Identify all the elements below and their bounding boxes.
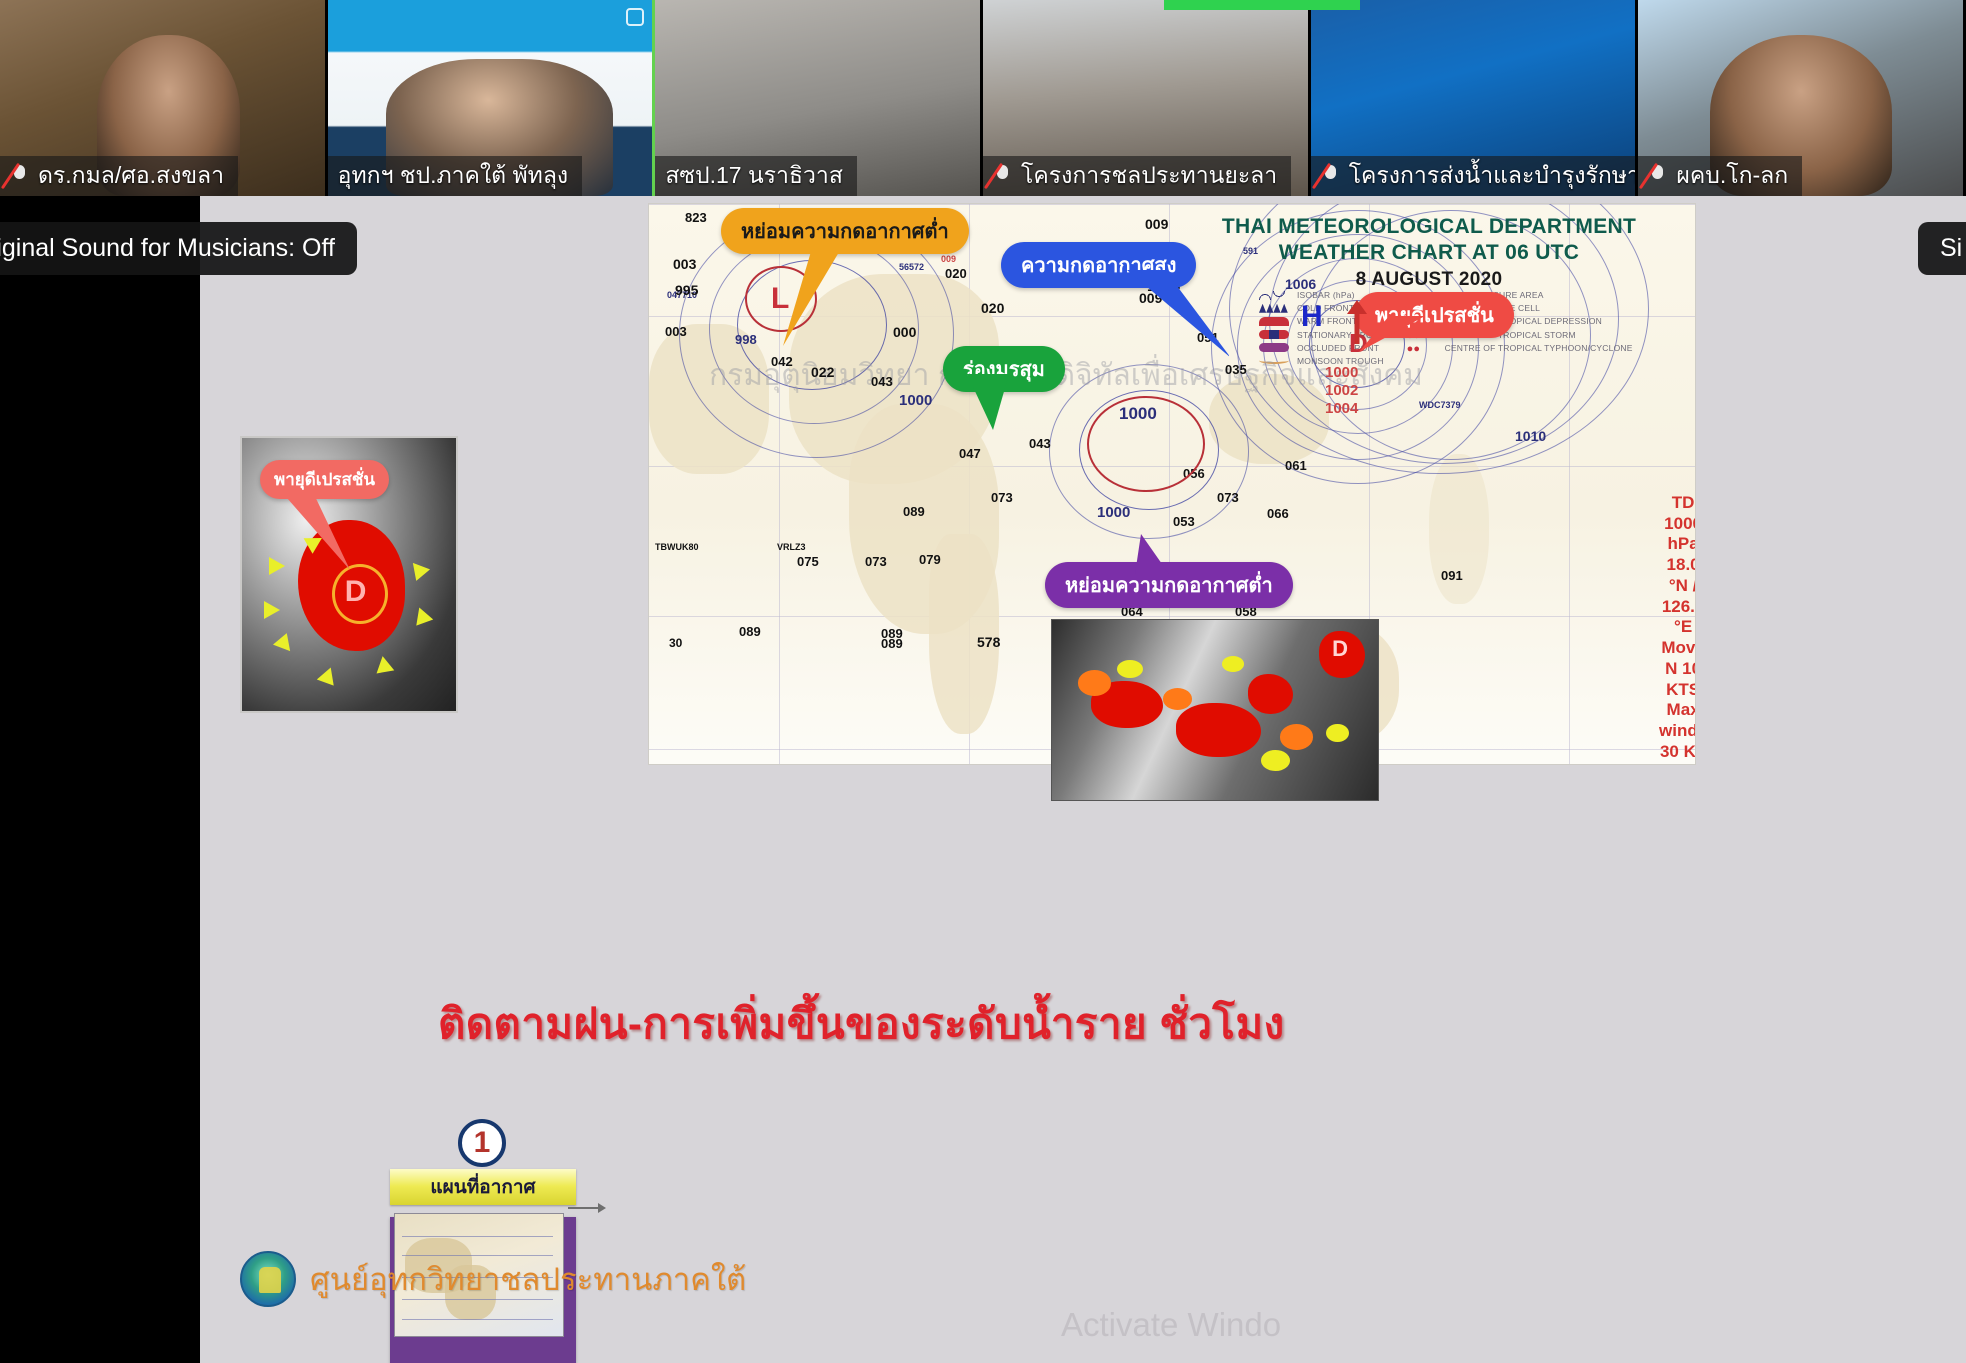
station-number: 073 (865, 554, 887, 569)
zoom-meeting-window: ดร.กมล/ศอ.สงขลา อุทกฯ ชป.ภาคใต้ พัทลุง ส… (0, 0, 1966, 1363)
organization-name: ศูนย์อุทกวิทยาชลประทานภาคใต้ (310, 1254, 746, 1304)
isobar-label: 1000 (1097, 504, 1130, 521)
participant-namebar: ดร.กมล/ศอ.สงขลา (0, 156, 238, 196)
callout-leader-purple (1079, 534, 1169, 574)
depression-marker: D (1332, 636, 1348, 662)
chart-id: VRLZ3 (777, 542, 806, 552)
td-winds: Max winds 30 KT (1659, 700, 1696, 762)
station-number: 075 (797, 554, 819, 569)
stationary-front-icon (1259, 330, 1289, 339)
station-number: 043 (871, 374, 893, 389)
mic-muted-icon (993, 163, 1013, 189)
station-number: 061 (1285, 458, 1307, 473)
chart-subtitle: WEATHER CHART AT 06 UTC (1189, 240, 1669, 266)
shared-screen-content: THAI METEOROLOGICAL DEPARTMENT WEATHER C… (200, 196, 1966, 1363)
slide-number-badge: 1 (458, 1119, 506, 1167)
chart-id: WDC7379 (1419, 400, 1461, 410)
participant-name: ผคบ.โก-ลก (1676, 158, 1788, 194)
isobar-label: 1000 (1325, 364, 1358, 381)
original-sound-toast: riginal Sound for Musicians: Off (0, 222, 357, 275)
video-tile-3[interactable]: โครงการชลประทานยะลา (983, 0, 1311, 196)
station-number: 020 (981, 300, 1004, 316)
participant-namebar: โครงการส่งน้ำและบำรุงรักษา... (1311, 156, 1639, 196)
td-position: 18.0 °N / 126.5 °E (1659, 555, 1696, 638)
speaking-indicator-bar (1164, 0, 1360, 10)
station-number: 089 (903, 504, 925, 519)
participant-namebar: อุทกฯ ชป.ภาคใต้ พัทลุง (328, 156, 582, 196)
station-number: 823 (685, 210, 707, 225)
station-number: 047 (959, 446, 981, 461)
mic-muted-icon (1321, 163, 1341, 189)
station-number: 022 (811, 364, 834, 380)
mic-muted-icon (1648, 163, 1668, 189)
station-number: 089 (881, 636, 903, 651)
station-number: 56572 (899, 262, 924, 272)
participant-name: อุทกฯ ชป.ภาคใต้ พัทลุง (338, 158, 568, 194)
depression-info: TD 1000 hPa 18.0 °N / 126.5 °E Move N 10… (1659, 493, 1696, 763)
mic-muted-icon (10, 163, 30, 189)
station-number: 073 (1217, 490, 1239, 505)
depression-marker: D (345, 575, 367, 609)
warm-front-icon (1259, 317, 1289, 326)
video-tile-1[interactable]: อุทกฯ ชป.ภาคใต้ พัทลุง (328, 0, 656, 196)
cold-front-icon (1259, 304, 1289, 313)
isobar-label: 1010 (1515, 428, 1546, 444)
chart-title-block: THAI METEOROLOGICAL DEPARTMENT WEATHER C… (1189, 214, 1669, 291)
station-number: 591 (1243, 246, 1258, 256)
callout-leader-orange (745, 238, 875, 348)
isobar-label: 1000 (899, 392, 932, 409)
secondary-toast: Si (1918, 222, 1966, 275)
station-number: 578 (977, 634, 1000, 650)
station-number: 009 (1145, 216, 1168, 232)
video-tile-4[interactable]: โครงการส่งน้ำและบำรุงรักษา... (1311, 0, 1639, 196)
station-number: 089 (739, 624, 761, 639)
pressure-value: 1006 (1285, 276, 1316, 292)
pressure-value: 1000 (1119, 404, 1157, 424)
isobar-label: 1002 (1325, 382, 1358, 399)
chart-title: THAI METEOROLOGICAL DEPARTMENT (1189, 214, 1669, 240)
pin-icon[interactable] (626, 8, 644, 26)
station-number: 003 (673, 256, 696, 272)
satellite-callout-leader (276, 490, 356, 574)
callout-leader-green (957, 374, 1037, 432)
isobar-label: 1004 (1325, 400, 1358, 417)
td-movement: Move N 10 KTS (1659, 638, 1696, 700)
station-number: 000 (893, 324, 916, 340)
station-number: 995 (675, 282, 698, 298)
station-number: 003 (665, 324, 687, 339)
video-tile-0[interactable]: ดร.กมล/ศอ.สงขลา (0, 0, 328, 196)
rid-seal-icon (240, 1251, 296, 1307)
satellite-image-depression: D พายุดีเปรสชั่น (240, 436, 458, 713)
station-number: 066 (1267, 506, 1289, 521)
organization-footer: ศูนย์อุทกวิทยาชลประทานภาคใต้ (240, 1251, 746, 1307)
station-number: 053 (1173, 514, 1195, 529)
station-number: 020 (945, 266, 967, 281)
callout-leader-blue (1109, 270, 1229, 362)
td-designation: TD 1000 hPa (1659, 493, 1696, 555)
slide-next-arrow-icon[interactable] (568, 1207, 604, 1209)
satellite-image-rain: D (1051, 619, 1379, 801)
video-tile-2[interactable]: สซป.17 นราธิวาส (655, 0, 983, 196)
slide-thumbnail-title: แผนที่อากาศ (390, 1169, 576, 1205)
participant-namebar: ผคบ.โก-ลก (1638, 156, 1802, 196)
station-number: 043 (1029, 436, 1051, 451)
windows-activation-watermark: Activate Windo (1061, 1306, 1281, 1344)
chart-date: 8 AUGUST 2020 (1189, 268, 1669, 291)
station-number: 035 (1225, 362, 1247, 377)
station-number: 042 (771, 354, 793, 369)
participant-namebar: โครงการชลประทานยะลา (983, 156, 1291, 196)
occluded-front-icon (1259, 343, 1289, 352)
participant-name: โครงการชลประทานยะลา (1021, 158, 1277, 194)
participant-name: โครงการส่งน้ำและบำรุงรักษา... (1349, 158, 1639, 194)
station-number: 091 (1441, 568, 1463, 583)
slide-headline: ติดตามฝน-การเพิ่มขึ้นของระดับน้ำราย ชั่ว… (438, 991, 1285, 1057)
station-number: 009 (941, 254, 956, 264)
video-tile-5[interactable]: ผคบ.โก-ลก (1638, 0, 1966, 196)
participant-video-strip: ดร.กมล/ศอ.สงขลา อุทกฯ ชป.ภาคใต้ พัทลุง ส… (0, 0, 1966, 196)
pressure-centre-H: H (1301, 300, 1323, 334)
station-number: 079 (919, 552, 941, 567)
station-number: 30 (669, 636, 682, 650)
chart-id: TBWUK80 (655, 542, 699, 552)
participant-name: สซป.17 นราธิวาส (665, 158, 843, 194)
movement-arrow-icon (1343, 300, 1373, 344)
station-number: 073 (991, 490, 1013, 505)
participant-namebar: สซป.17 นราธิวาส (655, 156, 857, 196)
participant-name: ดร.กมล/ศอ.สงขลา (38, 158, 224, 194)
